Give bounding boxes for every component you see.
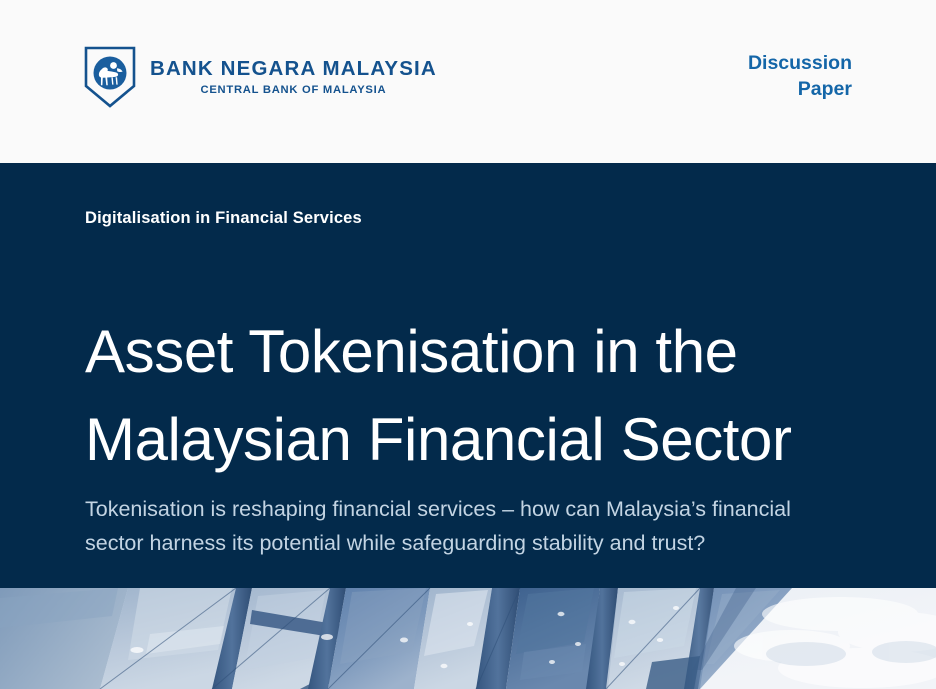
hero-tagline: Tokenisation is reshaping financial serv… (85, 492, 875, 562)
publisher-name: BANK NEGARA MALAYSIA (150, 58, 437, 81)
header-band: BANK NEGARA MALAYSIA CENTRAL BANK OF MAL… (0, 0, 936, 163)
publisher-subtitle: CENTRAL BANK OF MALAYSIA (201, 84, 387, 96)
cover-photograph (0, 588, 936, 689)
hero-eyebrow: Digitalisation in Financial Services (85, 209, 362, 228)
document-cover: BANK NEGARA MALAYSIA CENTRAL BANK OF MAL… (0, 0, 936, 689)
page-title: Asset Tokenisation in the Malaysian Fina… (85, 308, 885, 484)
publisher-name-block: BANK NEGARA MALAYSIA CENTRAL BANK OF MAL… (150, 58, 437, 97)
publisher-logo: BANK NEGARA MALAYSIA CENTRAL BANK OF MAL… (84, 46, 437, 108)
document-type-label: Discussion Paper (748, 50, 852, 103)
bnm-shield-emblem-icon (84, 46, 136, 108)
